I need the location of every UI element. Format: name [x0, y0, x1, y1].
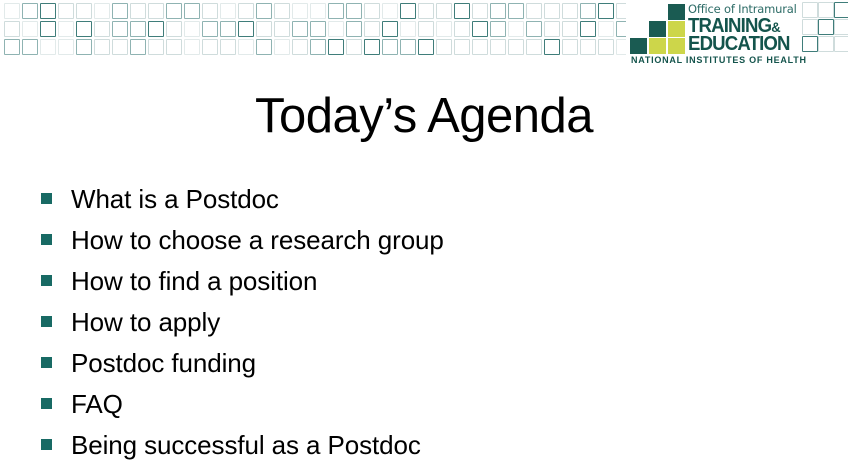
pattern-square [400, 39, 416, 55]
agenda-item-label: Being successful as a Postdoc [71, 427, 421, 463]
pattern-square [418, 3, 434, 19]
agenda-item: How to find a position [41, 263, 831, 304]
pattern-square [598, 3, 614, 19]
pattern-square [112, 3, 128, 19]
bullet-square-icon [41, 357, 52, 368]
agenda-item-label: How to apply [71, 304, 220, 340]
pattern-square [256, 39, 272, 55]
pattern-square [274, 3, 290, 19]
logo-mark-square [668, 4, 685, 20]
pattern-square [220, 3, 236, 19]
pattern-square [544, 3, 560, 19]
pattern-square [40, 21, 56, 37]
agenda-item-label: FAQ [71, 386, 123, 422]
pattern-square [544, 39, 560, 55]
pattern-square [202, 3, 218, 19]
pattern-square [76, 39, 92, 55]
logo-grid-square [802, 19, 818, 35]
logo-grid-square [834, 19, 848, 35]
agenda-item: Postdoc funding [41, 345, 831, 386]
pattern-square [256, 21, 272, 37]
pattern-square [22, 21, 38, 37]
logo-mark-square [649, 38, 666, 54]
pattern-square [490, 21, 506, 37]
pattern-square [472, 3, 488, 19]
pattern-square [76, 3, 92, 19]
pattern-square [40, 3, 56, 19]
pattern-square [562, 21, 578, 37]
bullet-square-icon [41, 398, 52, 409]
pattern-square [220, 39, 236, 55]
agenda-item: FAQ [41, 386, 831, 427]
pattern-square [292, 21, 308, 37]
pattern-square [382, 39, 398, 55]
pattern-square [148, 3, 164, 19]
pattern-square [274, 39, 290, 55]
pattern-square [346, 21, 362, 37]
bullet-square-icon [41, 439, 52, 450]
pattern-square [346, 39, 362, 55]
pattern-square [544, 21, 560, 37]
pattern-square [454, 3, 470, 19]
pattern-square [130, 3, 146, 19]
logo-mark-square [630, 38, 647, 54]
pattern-square [364, 39, 380, 55]
logo-education-line: EDUCATION [688, 33, 790, 56]
agenda-item-label: What is a Postdoc [71, 181, 279, 217]
bullet-square-icon [41, 316, 52, 327]
logo-grid-square [802, 2, 818, 18]
pattern-square [256, 3, 272, 19]
pattern-square [562, 39, 578, 55]
pattern-square [436, 39, 452, 55]
pattern-square [184, 39, 200, 55]
pattern-square [94, 39, 110, 55]
pattern-square [184, 21, 200, 37]
logo-mark-square [668, 38, 685, 54]
pattern-square [454, 21, 470, 37]
pattern-square [112, 39, 128, 55]
pattern-square [526, 3, 542, 19]
pattern-square [130, 21, 146, 37]
logo-right-square-grid [802, 2, 848, 54]
pattern-square [580, 21, 596, 37]
agenda-item: How to choose a research group [41, 222, 831, 263]
pattern-square [310, 21, 326, 37]
pattern-square [562, 3, 578, 19]
pattern-square [238, 39, 254, 55]
pattern-square [58, 39, 74, 55]
logo-grid-square [818, 2, 834, 18]
pattern-square [526, 39, 542, 55]
pattern-square [490, 3, 506, 19]
pattern-square [328, 21, 344, 37]
pattern-square [598, 21, 614, 37]
bullet-square-icon [41, 193, 52, 204]
bullet-square-icon [41, 275, 52, 286]
pattern-square [238, 3, 254, 19]
pattern-square [400, 21, 416, 37]
pattern-square [202, 21, 218, 37]
pattern-square [22, 3, 38, 19]
pattern-square [184, 3, 200, 19]
agenda-item-label: How to choose a research group [71, 222, 444, 258]
agenda-item: What is a Postdoc [41, 181, 831, 222]
pattern-square [274, 21, 290, 37]
logo-grid-square [834, 36, 848, 52]
pattern-square [418, 21, 434, 37]
pattern-square [94, 21, 110, 37]
pattern-square [58, 21, 74, 37]
pattern-square [508, 39, 524, 55]
pattern-square [382, 21, 398, 37]
pattern-square [310, 3, 326, 19]
pattern-square [382, 3, 398, 19]
bullet-square-icon [41, 234, 52, 245]
pattern-square [490, 39, 506, 55]
pattern-square [220, 21, 236, 37]
logo-nih-line: NATIONAL INSTITUTES OF HEALTH [631, 55, 807, 65]
logo-grid-square [802, 36, 818, 52]
pattern-square [580, 39, 596, 55]
pattern-square [238, 21, 254, 37]
pattern-square [508, 3, 524, 19]
pattern-square [310, 39, 326, 55]
pattern-square [202, 39, 218, 55]
pattern-square [22, 39, 38, 55]
pattern-square [94, 3, 110, 19]
logo-wordmark: Office of Intramural TRAINING& EDUCATION [688, 1, 800, 55]
pattern-square [112, 21, 128, 37]
logo-grid-square [818, 19, 834, 35]
pattern-square [418, 39, 434, 55]
pattern-square [526, 21, 542, 37]
agenda-item-label: Postdoc funding [71, 345, 256, 381]
agenda-list: What is a PostdocHow to choose a researc… [41, 181, 831, 468]
agenda-item: How to apply [41, 304, 831, 345]
pattern-square [346, 3, 362, 19]
pattern-square [364, 3, 380, 19]
agenda-item-label: How to find a position [71, 263, 317, 299]
logo-office-line: Office of Intramural [688, 2, 797, 16]
logo-grid-square [818, 36, 834, 52]
pattern-square [292, 3, 308, 19]
pattern-square [76, 21, 92, 37]
pattern-square [58, 3, 74, 19]
oite-logo-mark-icon [630, 4, 688, 54]
pattern-square [130, 39, 146, 55]
pattern-square [436, 3, 452, 19]
pattern-square [400, 3, 416, 19]
pattern-square [472, 39, 488, 55]
pattern-square [454, 39, 470, 55]
pattern-square [292, 39, 308, 55]
pattern-square [40, 39, 56, 55]
pattern-square [364, 21, 380, 37]
pattern-square [580, 3, 596, 19]
logo-grid-square [834, 2, 848, 18]
pattern-square [148, 39, 164, 55]
pattern-square [508, 21, 524, 37]
pattern-square [436, 21, 452, 37]
pattern-square [328, 39, 344, 55]
logo-mark-square [649, 21, 666, 37]
slide-title: Today’s Agenda [0, 92, 848, 141]
pattern-square [4, 39, 20, 55]
pattern-square [472, 21, 488, 37]
pattern-square [4, 3, 20, 19]
pattern-square [166, 39, 182, 55]
pattern-square [166, 21, 182, 37]
agenda-item: Being successful as a Postdoc [41, 427, 831, 468]
pattern-square [166, 3, 182, 19]
pattern-square [328, 3, 344, 19]
oite-logo: Office of Intramural TRAINING& EDUCATION… [626, 0, 848, 72]
pattern-square [4, 21, 20, 37]
pattern-square [598, 39, 614, 55]
pattern-square [148, 21, 164, 37]
logo-mark-square [668, 21, 685, 37]
